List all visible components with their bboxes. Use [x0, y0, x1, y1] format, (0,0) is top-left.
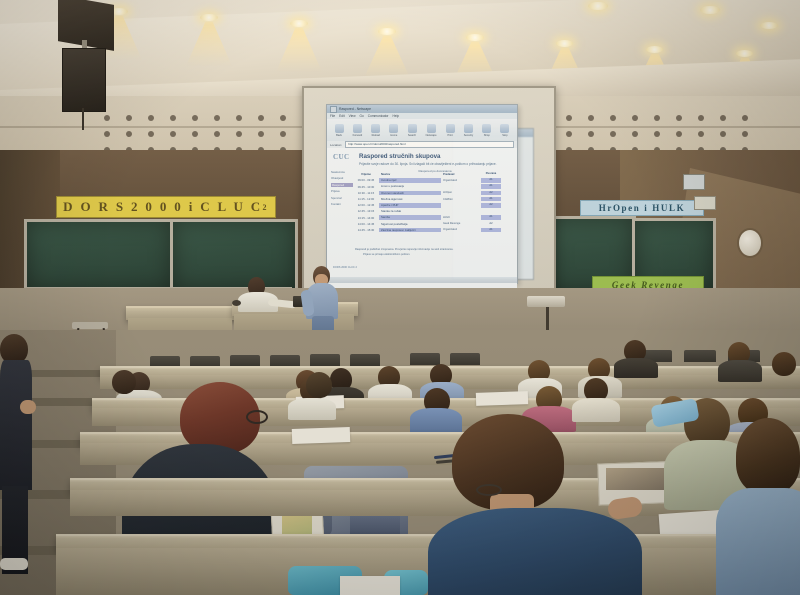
toolbar-home-label: Home	[390, 134, 397, 137]
standing-person-shoe	[0, 558, 28, 570]
cell-room: A1	[481, 178, 501, 183]
cell-time: 14:00 - 14:45	[355, 222, 377, 226]
toolbar-forward-label: Forward	[353, 134, 363, 137]
table-row[interactable]: 09:00 - 09:45 Uvodna riječ Organizatori …	[355, 178, 505, 183]
netscape-icon	[427, 124, 436, 133]
column-header-time: Vrijeme	[355, 172, 377, 176]
cell-room: A1	[481, 215, 501, 220]
cell-title: Uvodna riječ	[379, 178, 441, 183]
search-icon	[408, 124, 417, 133]
page-subtitle: Prijavite svoje radove do 30. lipnja. Sv…	[359, 162, 511, 167]
projector	[527, 296, 565, 307]
toolbar-home-button[interactable]: Home	[389, 124, 398, 137]
window-icon[interactable]	[330, 106, 337, 113]
cell-time: 10:30 - 11:15	[355, 191, 377, 195]
cell-title: Sigurnost poslužitelja	[379, 222, 441, 227]
cell-title: Mrežna sigurnost	[379, 197, 441, 202]
browser-titlebar[interactable]: Raspored - Netscape	[327, 105, 517, 113]
toolbar-search-button[interactable]: Search	[408, 124, 417, 137]
toolbar-reload-button[interactable]: Reload	[371, 124, 380, 137]
address-input[interactable]: http://www.open.hr/dors2000/raspored.htm…	[345, 141, 514, 148]
exit-sign	[683, 174, 705, 190]
menu-communicator[interactable]: Communicator	[368, 114, 389, 118]
nav-item-sponzori[interactable]: Sponzori	[331, 196, 353, 200]
browser-toolbar[interactable]: Back Forward Reload Home Search	[327, 119, 517, 141]
table-row[interactable]: 14:45 - 15:30 Završna rasprava i zaključ…	[355, 228, 505, 233]
chalkboard-left	[24, 219, 174, 293]
table-row[interactable]: 13:15 - 14:00 Samba HULK A1	[355, 215, 505, 220]
projected-browser-window[interactable]: Raspored - Netscape File Edit View Go Co…	[326, 104, 518, 284]
column-header-title: Naslov	[379, 172, 441, 177]
cell-title: Apache i PHP	[379, 203, 441, 208]
toolbar-stop-button[interactable]: Stop	[500, 124, 509, 137]
cell-time: 12:45 - 13:15	[355, 209, 377, 213]
toolbar-stop-label: Stop	[502, 134, 507, 137]
cell-title: Otvoreni standardi	[379, 191, 441, 196]
nav-item-raspored[interactable]: Raspored	[331, 183, 353, 187]
attendee-torso	[410, 408, 462, 434]
cell-room: A1	[481, 197, 501, 202]
table-row[interactable]: 12:00 - 12:45 Apache i PHP A2	[355, 203, 505, 208]
webpage-content: CUC Raspored stručnih skupova Prijavite …	[327, 148, 517, 290]
cell-author: CARNet	[443, 198, 479, 201]
nav-item-obavijesti[interactable]: Obavijesti	[331, 176, 353, 180]
browser-title-label: Raspored - Netscape	[339, 107, 371, 111]
stop-icon	[500, 124, 509, 133]
cell-room: A2	[481, 191, 501, 196]
attendee-torso	[288, 398, 336, 420]
ceiling-light	[378, 28, 396, 35]
chalkboard-left-2	[170, 219, 298, 293]
ceiling-light	[290, 20, 308, 27]
cell-author: HrOpen	[443, 191, 479, 194]
address-label: Location:	[330, 143, 342, 147]
table-header-row: Vrijeme Naslov Predavač Dvorana	[355, 172, 505, 177]
cell-time: 14:45 - 15:30	[355, 228, 377, 232]
forward-arrow-icon	[353, 124, 362, 133]
lock-icon	[464, 124, 473, 133]
cell-title: Završna rasprava i zaključci	[379, 228, 441, 233]
attendee-head	[772, 352, 796, 376]
ceiling-light	[760, 22, 778, 29]
footnote-line-2: Prijave se primaju elektroničkom poštom.	[363, 253, 507, 258]
seat-back	[410, 353, 440, 365]
toolbar-security-label: Security	[464, 134, 473, 137]
table-row[interactable]: 10:30 - 11:15 Otvoreni standardi HrOpen …	[355, 191, 505, 196]
cell-room: A2	[481, 203, 501, 208]
foreground-attendee-head	[736, 418, 800, 494]
attendee-torso	[572, 398, 620, 422]
paper-on-desk	[292, 427, 350, 444]
banner-dors-label: D O R S 2 0 0 0 i C L U C	[63, 199, 262, 215]
toolbar-shop-button[interactable]: Shop	[482, 124, 491, 137]
attendee-torso	[718, 360, 762, 382]
cell-time: 11:15 - 12:00	[355, 197, 377, 201]
speaker-cable	[82, 108, 84, 130]
back-arrow-icon	[335, 124, 344, 133]
foreground-attendee-torso	[428, 508, 642, 595]
menu-help[interactable]: Help	[393, 114, 400, 118]
nav-item-naslovnica[interactable]: Naslovnica	[331, 170, 353, 174]
foreground-attendee-glasses-arm	[476, 484, 502, 496]
cell-room	[481, 209, 501, 214]
seat-back	[310, 354, 340, 366]
cell-time: 13:15 - 14:00	[355, 216, 377, 220]
banner-dors-superscript: 2	[263, 203, 269, 212]
cell-time: 12:00 - 12:45	[355, 203, 377, 207]
cell-title: Linux u poslovanju	[379, 184, 441, 189]
browser-address-bar[interactable]: Location: http://www.open.hr/dors2000/ra…	[327, 141, 517, 148]
cell-room: A1	[481, 184, 501, 189]
banner-hropen-hulk: HrOpen i HULK	[580, 200, 704, 216]
banner-hropen-label: HrOpen i HULK	[599, 203, 686, 213]
wall-clock-icon	[737, 228, 763, 258]
cell-author: Organizatori	[443, 179, 479, 182]
table-row[interactable]: 14:00 - 14:45 Sigurnost poslužitelja Gee…	[355, 222, 505, 227]
page-footnote: Raspored je podložan izmjenama. Provjeri…	[355, 248, 507, 257]
toolbar-reload-label: Reload	[372, 134, 380, 137]
cell-title: Stanka za ručak	[379, 209, 441, 214]
standing-person-hand	[20, 400, 36, 414]
ceiling-light	[200, 14, 218, 21]
cell-title: Samba	[379, 215, 441, 220]
print-icon	[446, 124, 455, 133]
attendee-head	[112, 370, 136, 394]
toolbar-shop-label: Shop	[484, 134, 490, 137]
toolbar-netscape-button[interactable]: Netscape	[426, 124, 437, 137]
microphone-base	[232, 300, 241, 306]
menu-file[interactable]: File	[330, 114, 335, 118]
paper-on-desk	[340, 576, 400, 595]
ceiling-light	[736, 50, 753, 57]
foreground-attendee-torso	[716, 488, 800, 595]
ceiling-light	[700, 6, 720, 14]
toolbar-forward-button[interactable]: Forward	[353, 124, 363, 137]
ceiling-light	[466, 34, 484, 41]
table-row[interactable]: 11:15 - 12:00 Mrežna sigurnost CARNet A1	[355, 197, 505, 202]
column-header-room: Dvorana	[481, 172, 501, 177]
paper-on-desk	[476, 391, 528, 406]
toolbar-search-label: Search	[408, 134, 416, 137]
table-row[interactable]: 12:45 - 13:15 Stanka za ručak	[355, 209, 505, 214]
ceiling-light	[588, 2, 608, 10]
cell-author: HULK	[443, 216, 479, 219]
table-row[interactable]: 09:45 - 10:30 Linux u poslovanju A1	[355, 184, 505, 189]
cell-room: A1	[481, 228, 501, 233]
lecture-hall-photo: D O R S 2 0 0 0 i C L U C2 HrOpen i HULK…	[0, 0, 800, 595]
toolbar-back-button[interactable]: Back	[335, 124, 344, 137]
page-footer: DORS 2000 CLUC 2	[333, 266, 357, 270]
page-sidebar-nav[interactable]: Naslovnica Obavijesti Raspored Prijava S…	[331, 170, 353, 208]
page-heading: Raspored stručnih skupova	[359, 153, 511, 160]
attendee-glasses	[246, 410, 268, 424]
menu-go[interactable]: Go	[360, 114, 364, 118]
home-icon	[389, 124, 398, 133]
cell-time: 09:00 - 09:45	[355, 178, 377, 182]
wall-notice-sign	[694, 196, 716, 210]
ceiling-speaker-lower	[62, 48, 106, 112]
seat-back	[684, 350, 716, 362]
cell-author: Organizatori	[443, 228, 479, 231]
standing-person-torso	[0, 360, 32, 490]
toolbar-netscape-label: Netscape	[426, 134, 437, 137]
toolbar-print-button[interactable]: Print	[446, 124, 455, 137]
attendee-torso	[614, 358, 658, 378]
toolbar-security-button[interactable]: Security	[464, 124, 473, 137]
projection-screen: Raspored - Netscape File Edit View Go Co…	[302, 86, 556, 312]
column-header-author: Predavač	[443, 173, 479, 176]
browser-statusbar	[327, 277, 517, 283]
ceiling-light	[556, 40, 573, 47]
seat-back	[350, 354, 380, 366]
attendee-head	[306, 372, 332, 398]
seat-back	[450, 353, 480, 365]
ceiling-light	[646, 46, 663, 53]
nav-item-prijava[interactable]: Prijava	[331, 189, 353, 193]
nav-item-kontakt[interactable]: Kontakt	[331, 202, 353, 206]
reload-icon	[371, 124, 380, 133]
toolbar-print-label: Print	[448, 134, 453, 137]
banner-dors-cluc: D O R S 2 0 0 0 i C L U C2	[56, 196, 276, 218]
shop-icon	[482, 124, 491, 133]
cell-room: A2	[481, 222, 501, 227]
cell-time: 09:45 - 10:30	[355, 185, 377, 189]
menu-view[interactable]: View	[349, 114, 356, 118]
schedule-table: Vrijeme Naslov Predavač Dvorana 09:00 - …	[355, 172, 505, 234]
toolbar-back-label: Back	[336, 134, 342, 137]
cell-author: Geek Revenge	[443, 222, 479, 225]
footer-left: DORS 2000 CLUC 2	[333, 266, 357, 269]
menu-edit[interactable]: Edit	[339, 114, 345, 118]
